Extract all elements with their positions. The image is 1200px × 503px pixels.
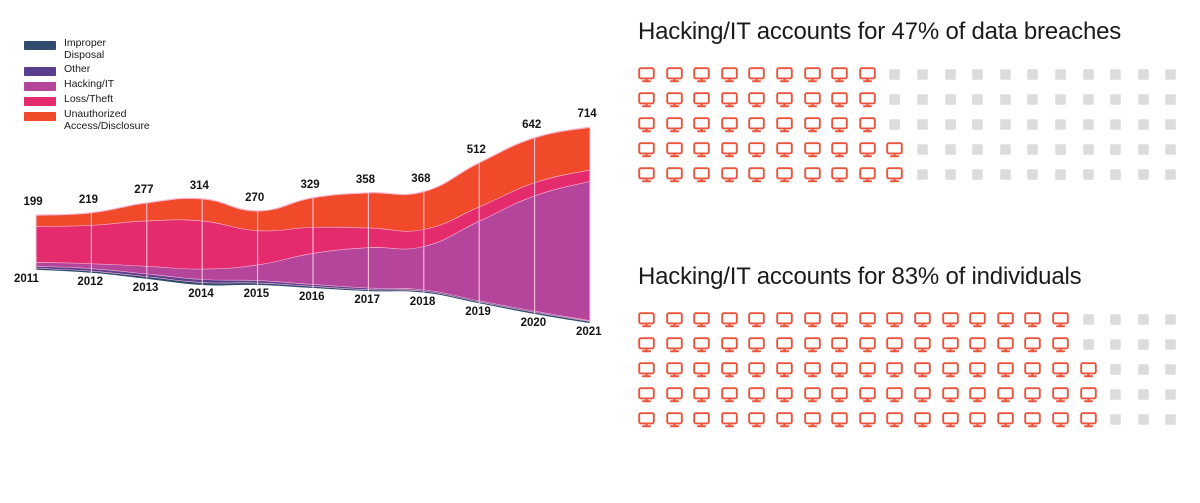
waffle-panel: Hacking/IT accounts for 47% of data brea… <box>620 0 1200 503</box>
legend-item[interactable]: Loss/Theft <box>24 94 204 106</box>
empty-block-icon <box>1162 412 1179 428</box>
monitor-icon <box>886 312 903 328</box>
monitor-icon <box>886 362 903 378</box>
monitor-icon <box>776 312 793 328</box>
legend-swatch <box>24 67 56 76</box>
monitor-icon <box>748 362 765 378</box>
empty-block-icon <box>1080 167 1097 183</box>
monitor-icon <box>666 387 683 403</box>
empty-block-icon <box>942 117 959 133</box>
monitor-icon <box>638 167 655 183</box>
monitor-icon <box>776 117 793 133</box>
empty-block-icon <box>997 142 1014 158</box>
monitor-icon <box>748 167 765 183</box>
monitor-icon <box>666 67 683 83</box>
monitor-icon <box>831 337 848 353</box>
monitor-icon <box>914 362 931 378</box>
year-axis-label: 2015 <box>244 288 270 300</box>
empty-block-icon <box>969 167 986 183</box>
monitor-icon <box>1052 412 1069 428</box>
empty-block-icon <box>1107 167 1124 183</box>
monitor-icon <box>1052 337 1069 353</box>
total-value-label: 219 <box>79 194 98 206</box>
empty-block-icon <box>1135 312 1152 328</box>
empty-block-icon <box>1107 117 1124 133</box>
monitor-icon <box>969 362 986 378</box>
empty-block-icon <box>1135 167 1152 183</box>
empty-block-icon <box>1052 67 1069 83</box>
monitor-icon <box>1080 362 1097 378</box>
legend-item-label: Improper Disposal <box>64 38 106 61</box>
empty-block-icon <box>1024 67 1041 83</box>
total-value-label: 314 <box>190 180 209 192</box>
empty-block-icon <box>1135 67 1152 83</box>
legend-item[interactable]: Improper Disposal <box>24 38 204 61</box>
monitor-icon <box>831 67 848 83</box>
legend-item-label: Other <box>64 64 90 76</box>
monitor-icon <box>859 142 876 158</box>
monitor-icon <box>748 387 765 403</box>
monitor-icon <box>748 412 765 428</box>
empty-block-icon <box>1107 142 1124 158</box>
empty-block-icon <box>1107 412 1124 428</box>
monitor-icon <box>666 362 683 378</box>
monitor-icon <box>804 362 821 378</box>
waffle-title-breaches: Hacking/IT accounts for 47% of data brea… <box>638 18 1200 46</box>
waffle-block-individuals: Hacking/IT accounts for 83% of individua… <box>638 263 1200 432</box>
empty-block-icon <box>1080 337 1097 353</box>
monitor-icon <box>1024 337 1041 353</box>
waffle-title-individuals: Hacking/IT accounts for 83% of individua… <box>638 263 1200 291</box>
monitor-icon <box>997 362 1014 378</box>
total-value-label: 642 <box>522 119 541 131</box>
year-axis-label: 2016 <box>299 291 325 303</box>
empty-block-icon <box>1107 362 1124 378</box>
monitor-icon <box>776 412 793 428</box>
empty-block-icon <box>942 92 959 108</box>
monitor-icon <box>942 387 959 403</box>
legend-item-label: Hacking/IT <box>64 79 114 91</box>
monitor-icon <box>693 412 710 428</box>
empty-block-icon <box>1024 167 1041 183</box>
monitor-icon <box>859 117 876 133</box>
empty-block-icon <box>997 67 1014 83</box>
monitor-icon <box>693 337 710 353</box>
monitor-icon <box>859 337 876 353</box>
empty-block-icon <box>1107 67 1124 83</box>
monitor-icon <box>721 142 738 158</box>
monitor-icon <box>666 412 683 428</box>
total-value-label: 199 <box>24 196 43 208</box>
year-axis-label: 2017 <box>354 294 380 306</box>
empty-block-icon <box>1080 92 1097 108</box>
monitor-icon <box>831 387 848 403</box>
empty-block-icon <box>1080 117 1097 133</box>
legend-item-label: Loss/Theft <box>64 94 113 106</box>
monitor-icon <box>693 387 710 403</box>
monitor-icon <box>666 92 683 108</box>
year-axis-label: 2011 <box>14 273 39 285</box>
legend-swatch <box>24 112 56 121</box>
monitor-icon <box>942 412 959 428</box>
monitor-icon <box>1024 312 1041 328</box>
monitor-icon <box>748 337 765 353</box>
monitor-icon <box>748 92 765 108</box>
monitor-icon <box>942 362 959 378</box>
empty-block-icon <box>969 92 986 108</box>
empty-block-icon <box>1162 142 1179 158</box>
monitor-icon <box>776 92 793 108</box>
monitor-icon <box>886 337 903 353</box>
monitor-icon <box>859 412 876 428</box>
monitor-icon <box>721 412 738 428</box>
monitor-icon <box>914 337 931 353</box>
monitor-icon <box>721 67 738 83</box>
monitor-icon <box>831 117 848 133</box>
empty-block-icon <box>969 117 986 133</box>
monitor-icon <box>693 142 710 158</box>
monitor-icon <box>638 362 655 378</box>
monitor-icon <box>638 67 655 83</box>
monitor-icon <box>804 67 821 83</box>
empty-block-icon <box>969 142 986 158</box>
monitor-icon <box>804 387 821 403</box>
monitor-icon <box>1052 362 1069 378</box>
monitor-icon <box>1024 362 1041 378</box>
empty-block-icon <box>1024 117 1041 133</box>
monitor-icon <box>969 412 986 428</box>
empty-block-icon <box>942 167 959 183</box>
empty-block-icon <box>1080 67 1097 83</box>
empty-block-icon <box>1052 117 1069 133</box>
empty-block-icon <box>1135 92 1152 108</box>
monitor-icon <box>969 337 986 353</box>
year-axis-label: 2014 <box>188 288 214 300</box>
empty-block-icon <box>1107 387 1124 403</box>
year-axis-label: 2019 <box>465 306 491 318</box>
monitor-icon <box>1052 312 1069 328</box>
monitor-icon <box>804 312 821 328</box>
empty-block-icon <box>1052 167 1069 183</box>
monitor-icon <box>638 142 655 158</box>
monitor-icon <box>721 92 738 108</box>
monitor-icon <box>776 67 793 83</box>
legend-swatch <box>24 97 56 106</box>
infographic-root: Improper DisposalOtherHacking/ITLoss/The… <box>0 0 1200 503</box>
monitor-icon <box>831 412 848 428</box>
legend-item[interactable]: Other <box>24 64 204 76</box>
chart-legend: Improper DisposalOtherHacking/ITLoss/The… <box>24 38 204 135</box>
year-axis-label: 2021 <box>576 326 602 338</box>
monitor-icon <box>1052 387 1069 403</box>
monitor-icon <box>969 387 986 403</box>
monitor-icon <box>859 362 876 378</box>
monitor-icon <box>638 117 655 133</box>
empty-block-icon <box>1135 117 1152 133</box>
monitor-icon <box>1080 412 1097 428</box>
monitor-icon <box>804 337 821 353</box>
empty-block-icon <box>942 142 959 158</box>
monitor-icon <box>804 412 821 428</box>
empty-block-icon <box>1135 142 1152 158</box>
monitor-icon <box>748 312 765 328</box>
monitor-icon <box>859 312 876 328</box>
empty-block-icon <box>1024 92 1041 108</box>
monitor-icon <box>721 337 738 353</box>
year-axis-label: 2012 <box>77 276 103 288</box>
empty-block-icon <box>1107 312 1124 328</box>
monitor-icon <box>997 312 1014 328</box>
monitor-icon <box>748 117 765 133</box>
waffle-grid-breaches <box>638 62 1200 187</box>
monitor-icon <box>804 92 821 108</box>
monitor-icon <box>886 412 903 428</box>
empty-block-icon <box>914 92 931 108</box>
monitor-icon <box>748 67 765 83</box>
total-value-label: 277 <box>134 184 153 196</box>
monitor-icon <box>721 117 738 133</box>
empty-block-icon <box>1080 312 1097 328</box>
monitor-icon <box>638 387 655 403</box>
monitor-icon <box>914 387 931 403</box>
monitor-icon <box>638 312 655 328</box>
legend-swatch <box>24 82 56 91</box>
monitor-icon <box>693 117 710 133</box>
monitor-icon <box>638 412 655 428</box>
empty-block-icon <box>1107 92 1124 108</box>
monitor-icon <box>859 67 876 83</box>
empty-block-icon <box>1162 167 1179 183</box>
monitor-icon <box>666 337 683 353</box>
monitor-icon <box>776 362 793 378</box>
monitor-icon <box>693 67 710 83</box>
monitor-icon <box>638 337 655 353</box>
waffle-block-breaches: Hacking/IT accounts for 47% of data brea… <box>638 18 1200 187</box>
monitor-icon <box>831 362 848 378</box>
monitor-icon <box>831 167 848 183</box>
stacked-area-chart: Improper DisposalOtherHacking/ITLoss/The… <box>0 0 620 503</box>
monitor-icon <box>804 167 821 183</box>
empty-block-icon <box>1135 337 1152 353</box>
monitor-icon <box>886 387 903 403</box>
monitor-icon <box>914 412 931 428</box>
legend-item-label: Unauthorized Access/Disclosure <box>64 109 150 132</box>
empty-block-icon <box>914 67 931 83</box>
empty-block-icon <box>1162 312 1179 328</box>
total-value-label: 512 <box>467 144 486 156</box>
waffle-grid-individuals <box>638 307 1200 432</box>
empty-block-icon <box>886 117 903 133</box>
empty-block-icon <box>1162 67 1179 83</box>
empty-block-icon <box>1135 387 1152 403</box>
monitor-icon <box>969 312 986 328</box>
year-axis-label: 2020 <box>521 317 547 329</box>
monitor-icon <box>693 92 710 108</box>
monitor-icon <box>776 387 793 403</box>
empty-block-icon <box>1162 387 1179 403</box>
empty-block-icon <box>1162 362 1179 378</box>
empty-block-icon <box>914 167 931 183</box>
empty-block-icon <box>1107 337 1124 353</box>
monitor-icon <box>776 167 793 183</box>
monitor-icon <box>776 142 793 158</box>
monitor-icon <box>638 92 655 108</box>
empty-block-icon <box>969 67 986 83</box>
total-value-label: 358 <box>356 174 375 186</box>
empty-block-icon <box>1162 337 1179 353</box>
monitor-icon <box>942 312 959 328</box>
year-axis-label: 2013 <box>133 282 159 294</box>
monitor-icon <box>997 412 1014 428</box>
monitor-icon <box>831 92 848 108</box>
monitor-icon <box>693 167 710 183</box>
monitor-icon <box>748 142 765 158</box>
monitor-icon <box>804 142 821 158</box>
monitor-icon <box>1080 387 1097 403</box>
monitor-icon <box>942 337 959 353</box>
empty-block-icon <box>997 167 1014 183</box>
empty-block-icon <box>886 67 903 83</box>
empty-block-icon <box>1162 92 1179 108</box>
monitor-icon <box>666 117 683 133</box>
empty-block-icon <box>1052 142 1069 158</box>
monitor-icon <box>1024 387 1041 403</box>
monitor-icon <box>804 117 821 133</box>
empty-block-icon <box>942 67 959 83</box>
monitor-icon <box>859 167 876 183</box>
monitor-icon <box>776 337 793 353</box>
monitor-icon <box>997 387 1014 403</box>
monitor-icon <box>831 312 848 328</box>
legend-item[interactable]: Unauthorized Access/Disclosure <box>24 109 204 132</box>
empty-block-icon <box>1162 117 1179 133</box>
legend-swatch <box>24 41 56 50</box>
empty-block-icon <box>997 117 1014 133</box>
monitor-icon <box>859 387 876 403</box>
monitor-icon <box>693 362 710 378</box>
total-value-label: 329 <box>301 179 320 191</box>
empty-block-icon <box>1024 142 1041 158</box>
empty-block-icon <box>914 117 931 133</box>
empty-block-icon <box>997 92 1014 108</box>
empty-block-icon <box>1135 362 1152 378</box>
total-value-label: 270 <box>245 192 264 204</box>
empty-block-icon <box>886 92 903 108</box>
monitor-icon <box>997 337 1014 353</box>
monitor-icon <box>693 312 710 328</box>
empty-block-icon <box>914 142 931 158</box>
empty-block-icon <box>1135 412 1152 428</box>
monitor-icon <box>886 167 903 183</box>
monitor-icon <box>721 362 738 378</box>
monitor-icon <box>666 142 683 158</box>
monitor-icon <box>831 142 848 158</box>
monitor-icon <box>886 142 903 158</box>
legend-item[interactable]: Hacking/IT <box>24 79 204 91</box>
monitor-icon <box>721 387 738 403</box>
monitor-icon <box>721 167 738 183</box>
total-value-label: 714 <box>578 108 597 120</box>
monitor-icon <box>666 312 683 328</box>
monitor-icon <box>859 92 876 108</box>
monitor-icon <box>1024 412 1041 428</box>
monitor-icon <box>914 312 931 328</box>
total-value-label: 368 <box>411 173 430 185</box>
monitor-icon <box>666 167 683 183</box>
empty-block-icon <box>1080 142 1097 158</box>
monitor-icon <box>721 312 738 328</box>
year-axis-label: 2018 <box>410 296 436 308</box>
empty-block-icon <box>1052 92 1069 108</box>
